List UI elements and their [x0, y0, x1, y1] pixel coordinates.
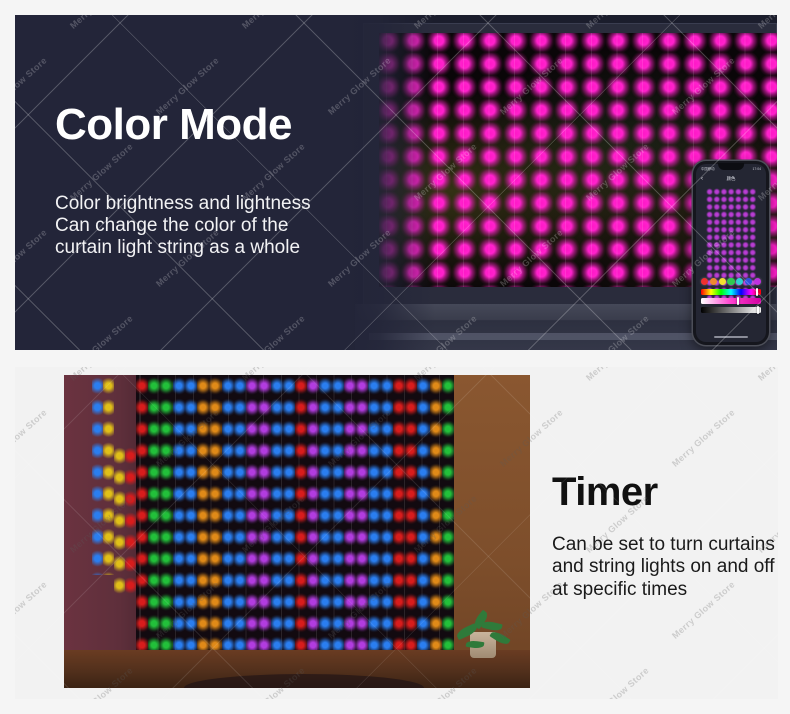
led-curtain-multicolor: [136, 375, 454, 656]
color-mode-desc-line-1: Color brightness and lightness: [55, 193, 385, 215]
status-carrier: 中国移动: [701, 166, 715, 171]
timer-scene-image: [64, 375, 530, 688]
led-column: [222, 375, 234, 656]
timer-desc-line-1: Can be set to turn curtains: [552, 534, 778, 556]
color-mode-title: Color Mode: [55, 103, 385, 147]
led-column: [148, 375, 160, 656]
led-column: [319, 375, 331, 656]
led-column: [405, 375, 417, 656]
led-column: [125, 445, 136, 595]
led-column: [92, 375, 103, 575]
color-swatch-orange[interactable]: [710, 278, 717, 285]
led-column: [356, 375, 368, 656]
led-curtain-left-columns: [92, 375, 136, 656]
nav-title: 颜色: [727, 176, 736, 182]
led-column: [344, 375, 356, 656]
phone-screen[interactable]: 中国移动 17:04 ‹ 颜色: [696, 164, 766, 342]
led-column: [103, 375, 114, 575]
led-column: [283, 375, 295, 656]
home-indicator: [714, 336, 748, 338]
color-swatch-row[interactable]: [701, 278, 761, 285]
hue-slider[interactable]: [701, 289, 761, 295]
watermark-text: Merry Glow Store: [15, 55, 49, 117]
led-column: [295, 375, 307, 656]
back-icon[interactable]: ‹: [701, 176, 703, 182]
led-column: [185, 375, 197, 656]
saturation-slider[interactable]: [701, 298, 761, 304]
saturation-slider-knob[interactable]: [737, 297, 739, 305]
led-column: [442, 375, 454, 656]
hue-slider-knob[interactable]: [756, 288, 758, 296]
color-swatch-yellow[interactable]: [719, 278, 726, 285]
color-mode-desc-line-3: curtain light string as a whole: [55, 237, 385, 259]
watermark-text: Merry Glow Store: [584, 665, 651, 699]
phone-notch: [718, 163, 744, 170]
led-column: [332, 375, 344, 656]
watermark-text: Merry Glow Store: [756, 665, 778, 699]
color-mode-panel: 中国移动 17:04 ‹ 颜色: [15, 15, 777, 350]
color-mode-desc-line-2: Can change the color of the: [55, 215, 385, 237]
led-column: [197, 375, 209, 656]
status-time: 17:04: [753, 167, 762, 171]
color-picker-phone[interactable]: 中国移动 17:04 ‹ 颜色: [693, 161, 769, 345]
watermark-text: Merry Glow Store: [756, 367, 778, 383]
brightness-slider[interactable]: [701, 307, 761, 313]
color-swatch-green[interactable]: [727, 278, 734, 285]
color-mode-text-block: Color Mode Color brightness and lightnes…: [55, 103, 385, 260]
led-column: [271, 375, 283, 656]
led-column: [430, 375, 442, 656]
color-swatch-cyan[interactable]: [736, 278, 743, 285]
led-column: [307, 375, 319, 656]
watermark-text: Merry Glow Store: [240, 313, 307, 350]
timer-desc-line-3: at specific times: [552, 579, 778, 601]
led-column: [114, 445, 125, 595]
color-swatch-magenta[interactable]: [754, 278, 761, 285]
timer-panel: 中国移动 17:04 ‹ 定时 定时开灯 开关 时间 08:00 > 日: [15, 367, 778, 699]
watermark-text: Merry Glow Store: [584, 367, 651, 383]
led-column: [160, 375, 172, 656]
led-column: [173, 375, 185, 656]
watermark-text: Merry Glow Store: [15, 579, 49, 641]
timer-text-block: Timer Can be set to turn curtains and st…: [552, 472, 778, 601]
watermark-text: Merry Glow Store: [15, 407, 49, 469]
watermark-text: Merry Glow Store: [68, 313, 135, 350]
led-column: [209, 375, 221, 656]
led-column: [246, 375, 258, 656]
timer-title: Timer: [552, 472, 778, 512]
color-swatch-red[interactable]: [701, 278, 708, 285]
led-column: [368, 375, 380, 656]
watermark-text: Merry Glow Store: [15, 227, 49, 289]
color-controls[interactable]: [701, 278, 761, 316]
led-column: [136, 375, 148, 656]
led-column: [381, 375, 393, 656]
brightness-slider-knob[interactable]: [757, 306, 759, 314]
nav-bar: ‹ 颜色: [696, 173, 766, 184]
led-column: [258, 375, 270, 656]
led-column: [393, 375, 405, 656]
timer-desc-line-2: and string lights on and off: [552, 556, 778, 578]
watermark-text: Merry Glow Store: [68, 15, 135, 31]
watermark-text: Merry Glow Store: [670, 407, 737, 469]
led-column: [234, 375, 246, 656]
led-column: [417, 375, 429, 656]
watermark-text: Merry Glow Store: [240, 15, 307, 31]
color-swatch-blue[interactable]: [745, 278, 752, 285]
